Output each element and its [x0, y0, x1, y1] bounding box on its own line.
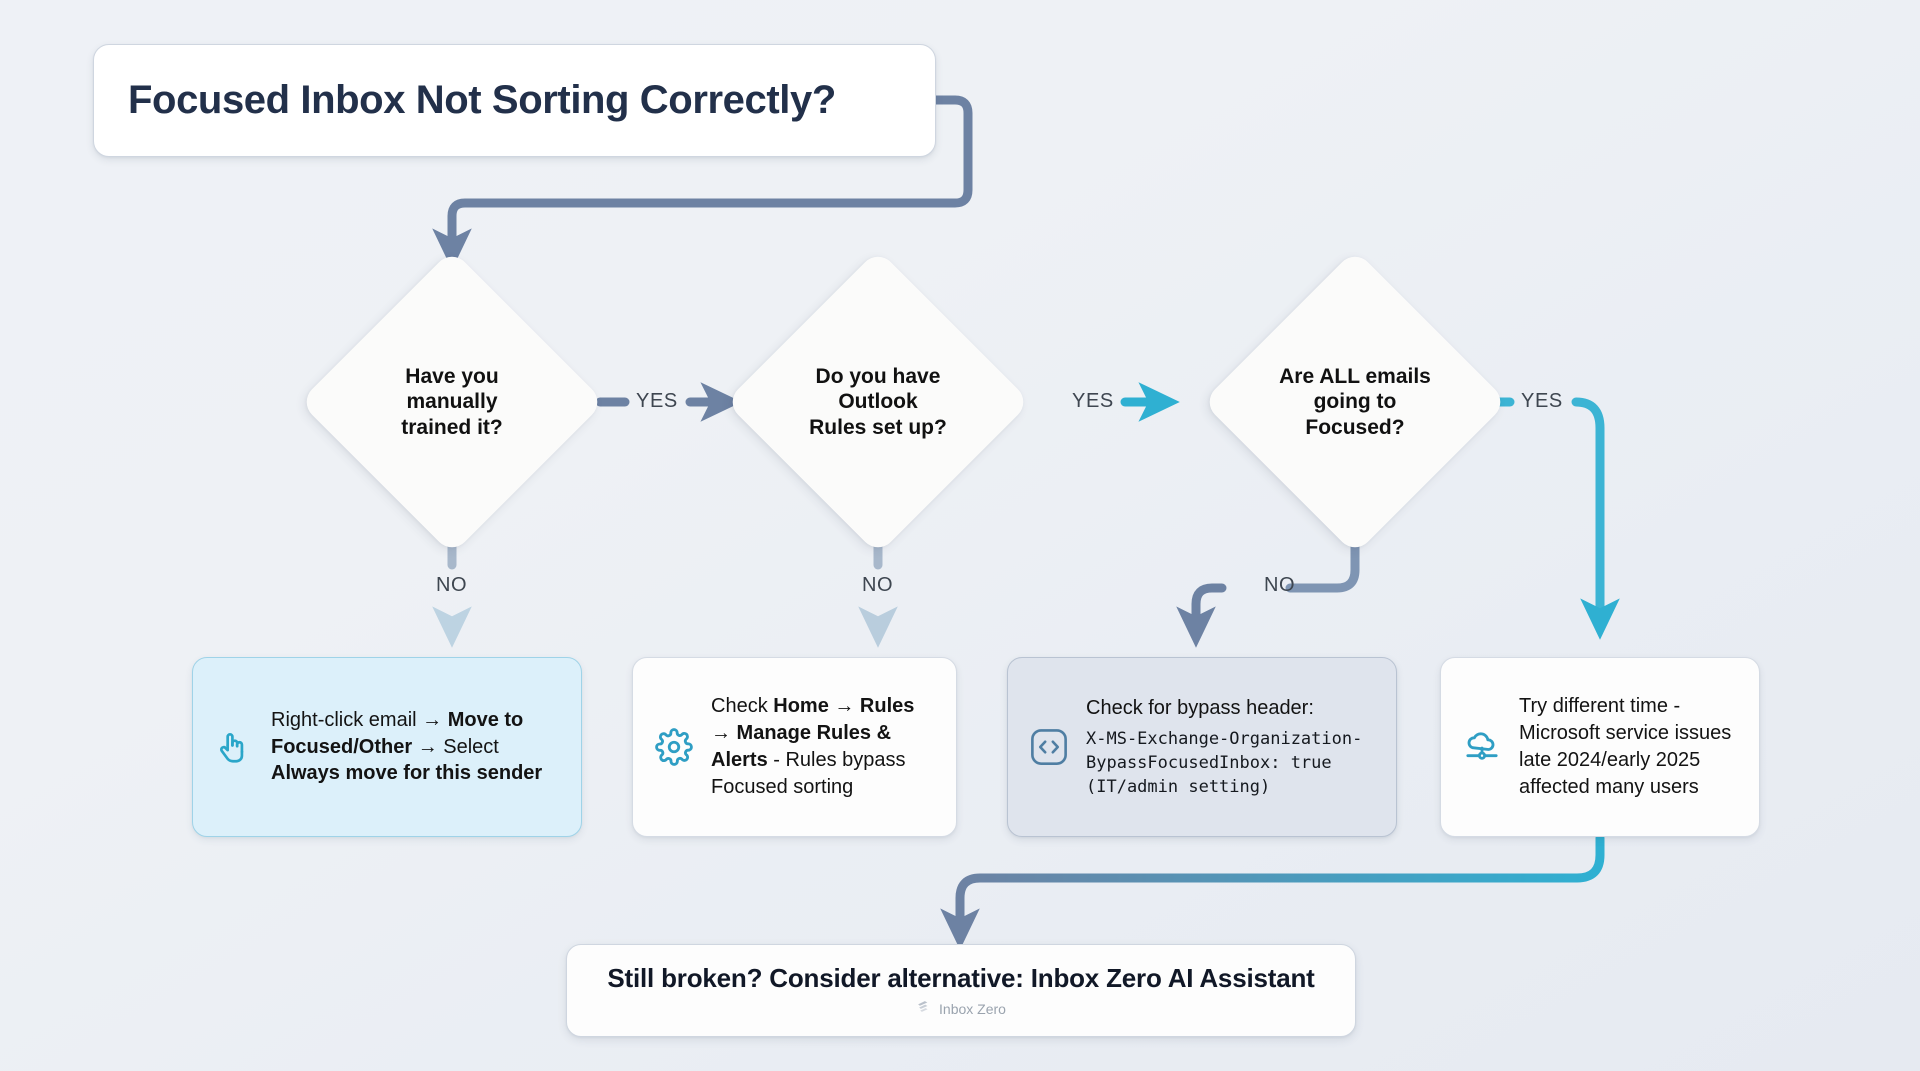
run: Check — [711, 695, 773, 717]
page-title: Focused Inbox Not Sorting Correctly? — [128, 78, 836, 123]
inbox-zero-logo-icon — [916, 999, 933, 1019]
footer-brand-label: Inbox Zero — [939, 1001, 1006, 1017]
result-card-manual-train[interactable]: Right-click email → Move to Focused/Othe… — [192, 657, 582, 837]
card-text-service-issue: Try different time - Microsoft service i… — [1519, 693, 1741, 800]
card-text-bypass-header: Check for bypass header: X-MS-Exchange-O… — [1086, 695, 1362, 799]
run: Right-click email → — [271, 709, 448, 731]
decision-text-trained: Have you manually trained it? — [401, 364, 503, 441]
edge-label-yes-1: YES — [636, 390, 678, 413]
card-heading: Check for bypass header: — [1086, 695, 1362, 721]
decision-node-rules[interactable]: Do you have Outlook Rules set up? — [728, 252, 1028, 552]
decision-text-rules: Do you have Outlook Rules set up? — [809, 364, 947, 441]
decision-node-trained[interactable]: Have you manually trained it? — [302, 252, 602, 552]
flowchart-canvas: YES YES YES NO NO NO Focused Inbox Not S… — [0, 0, 1920, 1071]
decision-label: Are ALL emails going to Focused? — [1233, 252, 1477, 552]
card-text-manual-train: Right-click email → Move to Focused/Othe… — [271, 707, 563, 787]
decision-node-allmails[interactable]: Are ALL emails going to Focused? — [1205, 252, 1505, 552]
edge-label-yes-3: YES — [1521, 390, 1563, 413]
footer-cta-box[interactable]: Still broken? Consider alternative: Inbo… — [566, 944, 1356, 1037]
result-card-bypass-header[interactable]: Check for bypass header: X-MS-Exchange-O… — [1007, 657, 1397, 837]
edge-label-yes-2: YES — [1072, 390, 1114, 413]
decision-label: Have you manually trained it? — [330, 252, 574, 552]
edge-card4-to-footer — [960, 838, 1600, 930]
edge-label-no-2: NO — [862, 574, 893, 597]
result-card-outlook-rules[interactable]: Check Home → Rules → Manage Rules & Aler… — [632, 657, 957, 837]
decision-label: Do you have Outlook Rules set up? — [756, 252, 1000, 552]
run: Try different time - Microsoft service i… — [1519, 695, 1731, 797]
edge-label-no-3: NO — [1264, 574, 1295, 597]
cloud-network-icon — [1461, 726, 1503, 768]
card-text-outlook-rules: Check Home → Rules → Manage Rules & Aler… — [711, 693, 938, 800]
edge-label-no-1: NO — [436, 574, 467, 597]
card-code-block: X-MS-Exchange-Organization- BypassFocuse… — [1086, 727, 1362, 799]
footer-title: Still broken? Consider alternative: Inbo… — [607, 963, 1314, 994]
flowchart-title-box: Focused Inbox Not Sorting Correctly? — [93, 44, 936, 157]
gear-icon — [653, 726, 695, 768]
decision-text-allmails: Are ALL emails going to Focused? — [1279, 364, 1431, 441]
pointing-hand-icon — [213, 726, 255, 768]
code-icon — [1028, 726, 1070, 768]
result-card-service-issue[interactable]: Try different time - Microsoft service i… — [1440, 657, 1760, 837]
run: → Select — [412, 736, 499, 758]
run-bold: Always move for this sender — [271, 762, 542, 784]
footer-brand: Inbox Zero — [916, 999, 1006, 1019]
